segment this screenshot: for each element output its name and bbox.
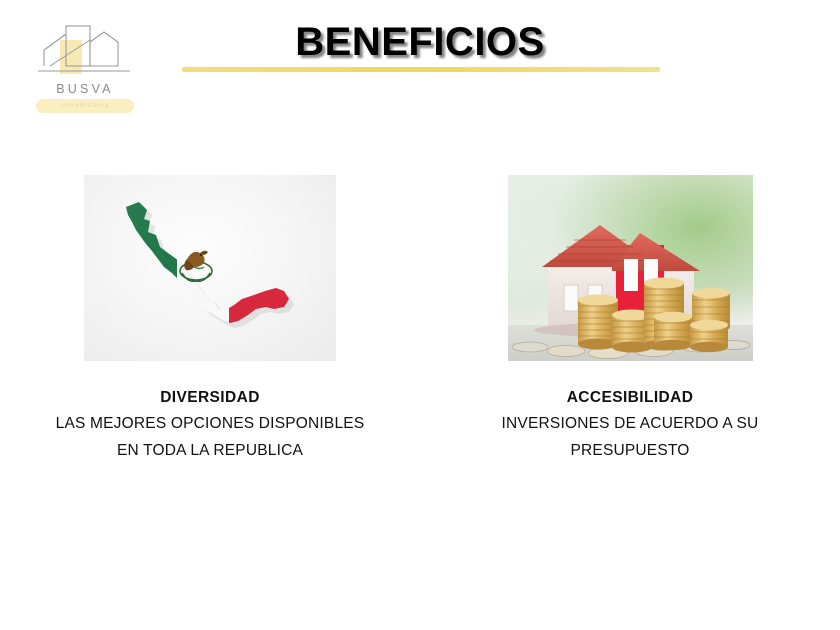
- eagle-emblem: [180, 251, 212, 282]
- benefit-caption: ACCESIBILIDAD INVERSIONES DE ACUERDO A S…: [430, 387, 830, 463]
- title-underline-rule: [182, 67, 660, 72]
- logo-tagline: inmobiliaria: [36, 100, 134, 112]
- benefits-row: DIVERSIDAD LAS MEJORES OPCIONES DISPONIB…: [0, 175, 840, 463]
- benefit-description-line1: LAS MEJORES OPCIONES DISPONIBLES: [10, 411, 410, 436]
- benefit-description-line2: EN TODA LA REPUBLICA: [10, 438, 410, 463]
- benefit-card-diversidad: DIVERSIDAD LAS MEJORES OPCIONES DISPONIB…: [0, 175, 420, 463]
- logo-wordmark: BUSVA: [30, 82, 140, 96]
- mexico-map-image: [84, 175, 336, 361]
- house-and-coins-image: [508, 175, 753, 361]
- benefit-card-accesibilidad: ACCESIBILIDAD INVERSIONES DE ACUERDO A S…: [420, 175, 840, 463]
- benefit-title: DIVERSIDAD: [10, 387, 410, 409]
- slide-title: BENEFICIOS: [0, 20, 840, 65]
- mexico-map-flag-photo: [84, 175, 336, 361]
- coin-stack-6: [690, 320, 728, 352]
- house-and-coins-photo: [508, 175, 753, 361]
- coin-stack-4: [654, 312, 692, 350]
- benefit-caption: DIVERSIDAD LAS MEJORES OPCIONES DISPONIB…: [10, 387, 410, 463]
- benefit-title: ACCESIBILIDAD: [430, 387, 830, 409]
- logo-tagline-band: inmobiliaria: [36, 99, 134, 113]
- benefit-description-line1: INVERSIONES DE ACUERDO A SU: [430, 411, 830, 436]
- benefit-description-line2: PRESUPUESTO: [430, 438, 830, 463]
